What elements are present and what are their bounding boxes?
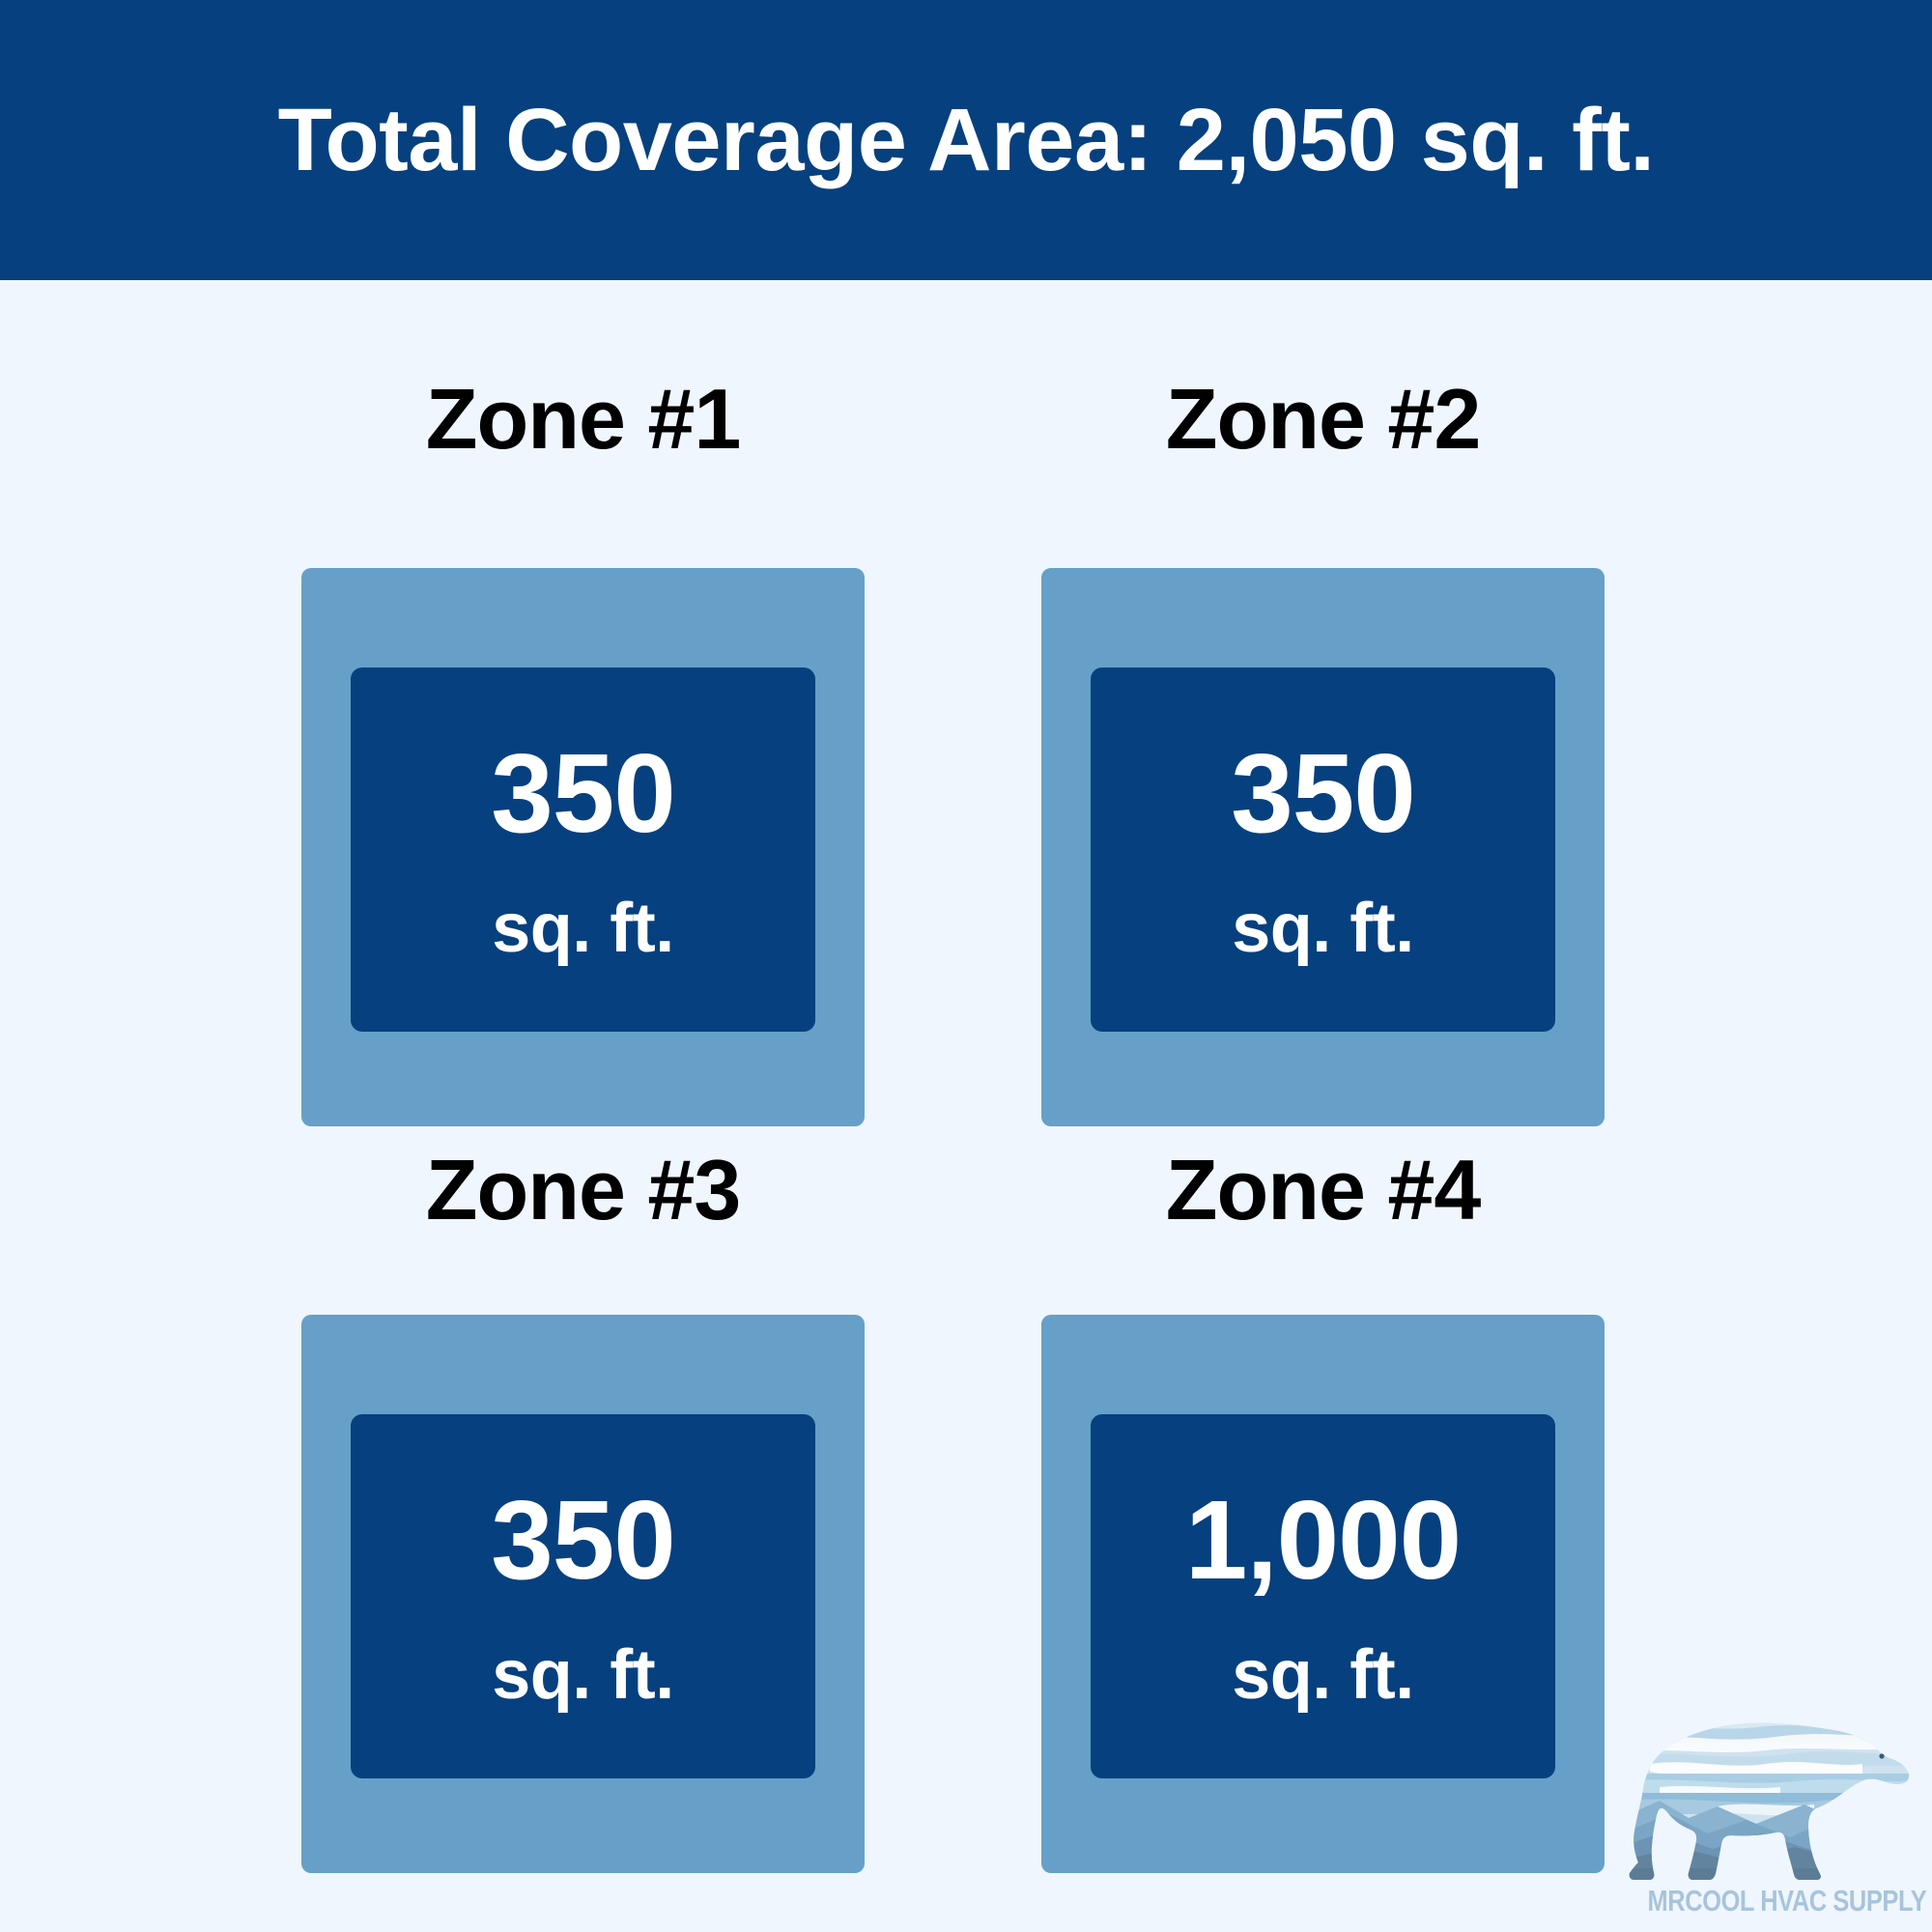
- zone-value-1: 350: [491, 737, 675, 849]
- logo-text: MRCOOL HVAC SUPPLY: [1648, 1884, 1890, 1918]
- zone-card-1: Zone #1 350 sq. ft.: [301, 377, 865, 1126]
- bear-icon: [1621, 1718, 1917, 1882]
- coverage-area-infographic: Total Coverage Area: 2,050 sq. ft. Zone …: [0, 0, 1932, 1932]
- zone-unit-3: sq. ft.: [492, 1640, 674, 1710]
- zone-unit-2: sq. ft.: [1232, 894, 1414, 963]
- header-banner: Total Coverage Area: 2,050 sq. ft.: [0, 0, 1932, 280]
- brand-logo: MRCOOL HVAC SUPPLY: [1621, 1718, 1917, 1922]
- zone-label-1: Zone #1: [301, 377, 865, 462]
- bear-landscape-fill: [1621, 1718, 1917, 1882]
- zone-label-3: Zone #3: [301, 1148, 865, 1233]
- zone-inner-box-4: 1,000 sq. ft.: [1091, 1414, 1555, 1778]
- zone-inner-box-3: 350 sq. ft.: [351, 1414, 815, 1778]
- zone-label-4: Zone #4: [1041, 1148, 1605, 1233]
- bear-eye-icon: [1879, 1753, 1884, 1758]
- zone-outer-box-2: 350 sq. ft.: [1041, 568, 1605, 1126]
- zone-card-4: Zone #4 1,000 sq. ft.: [1041, 1148, 1605, 1873]
- zone-outer-box-3: 350 sq. ft.: [301, 1315, 865, 1873]
- zone-label-2: Zone #2: [1041, 377, 1605, 462]
- zone-value-4: 1,000: [1185, 1484, 1461, 1596]
- zone-inner-box-1: 350 sq. ft.: [351, 668, 815, 1032]
- zone-inner-box-2: 350 sq. ft.: [1091, 668, 1555, 1032]
- zone-value-3: 350: [491, 1484, 675, 1596]
- zone-unit-1: sq. ft.: [492, 894, 674, 963]
- zone-unit-4: sq. ft.: [1232, 1640, 1414, 1710]
- zone-outer-box-4: 1,000 sq. ft.: [1041, 1315, 1605, 1873]
- zone-card-3: Zone #3 350 sq. ft.: [301, 1148, 865, 1873]
- zone-value-2: 350: [1231, 737, 1415, 849]
- zone-card-2: Zone #2 350 sq. ft.: [1041, 377, 1605, 1126]
- zone-outer-box-1: 350 sq. ft.: [301, 568, 865, 1126]
- page-title: Total Coverage Area: 2,050 sq. ft.: [278, 96, 1655, 185]
